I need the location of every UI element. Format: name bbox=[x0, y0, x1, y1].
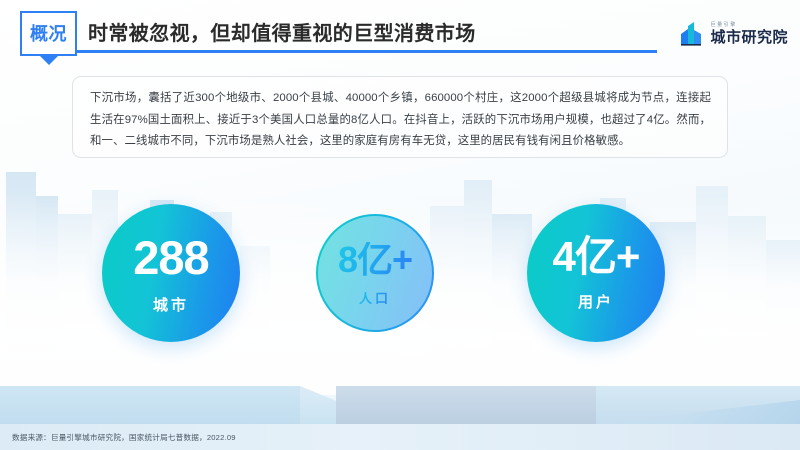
summary-card: 下沉市场，囊括了近300个地级市、2000个县城、40000个乡镇，660000… bbox=[72, 76, 728, 158]
building-logo-icon bbox=[679, 20, 705, 46]
stat-label: 用户 bbox=[578, 295, 614, 310]
stat-value: 288 bbox=[133, 234, 208, 281]
logo-title: 城市研究院 bbox=[710, 30, 788, 46]
stat-value: 4亿+ bbox=[553, 236, 640, 278]
data-source-note: 数据来源：巨量引擎城市研究院，国家统计局七普数据，2022.09 bbox=[12, 432, 236, 443]
section-tag-label: 概况 bbox=[30, 25, 67, 43]
summary-paragraph: 下沉市场，囊括了近300个地级市、2000个县城、40000个乡镇，660000… bbox=[90, 88, 711, 153]
slide-header: 概况 时常被忽视，但却值得重视的巨型消费市场 巨量引擎 城市研究院 bbox=[0, 0, 800, 62]
stat-circle-cities: 288 城市 bbox=[102, 204, 240, 342]
logo-subtitle: 巨量引擎 bbox=[710, 22, 788, 29]
stat-label: 人口 bbox=[359, 292, 391, 305]
stat-circle-population: 8亿+ 人口 bbox=[316, 214, 434, 332]
stat-label: 城市 bbox=[153, 298, 189, 313]
stat-circles: 288 城市 8亿+ 人口 4亿+ 用户 bbox=[0, 196, 800, 356]
title-underline bbox=[77, 50, 657, 53]
section-tag: 概况 bbox=[20, 11, 77, 56]
stat-value: 8亿+ bbox=[338, 242, 412, 278]
brand-logo: 巨量引擎 城市研究院 bbox=[679, 14, 788, 46]
page-title: 时常被忽视，但却值得重视的巨型消费市场 bbox=[88, 17, 476, 46]
slide-canvas: 概况 时常被忽视，但却值得重视的巨型消费市场 巨量引擎 城市研究院 下沉市场，囊… bbox=[0, 0, 800, 450]
stat-circle-users: 4亿+ 用户 bbox=[527, 204, 665, 342]
